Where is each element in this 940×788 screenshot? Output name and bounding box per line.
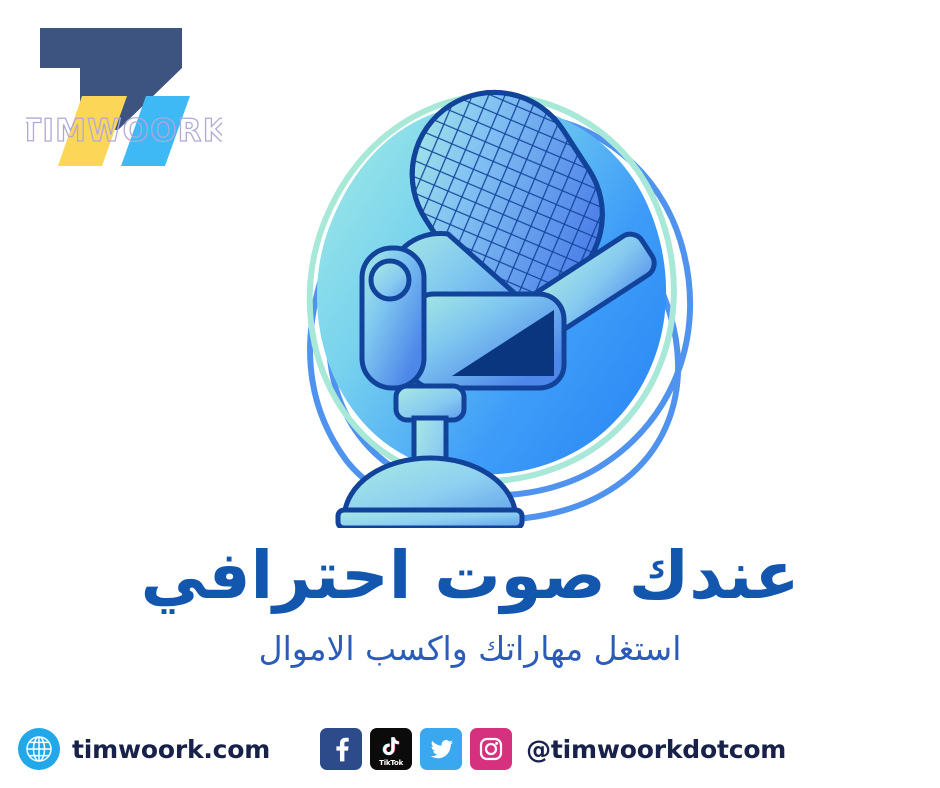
website-url[interactable]: timwoork.com (72, 735, 270, 764)
tiktok-link[interactable]: TikTok (370, 728, 412, 770)
tiktok-wordmark: TikTok (370, 760, 412, 767)
promo-poster: TIMWOORK (0, 0, 940, 788)
brand-logo[interactable]: TIMWOORK (22, 8, 222, 168)
headline-block: عندك صوت احترافي استغل مهاراتك واكسب الا… (0, 540, 940, 668)
twitter-icon (428, 736, 455, 763)
instagram-icon (478, 736, 504, 762)
social-handle[interactable]: @timwoorkdotcom (526, 735, 786, 764)
facebook-link[interactable] (320, 728, 362, 770)
headline-text: عندك صوت احترافي (0, 540, 940, 611)
facebook-icon (328, 736, 354, 762)
website-group[interactable]: timwoork.com (18, 728, 270, 770)
footer-bar: timwoork.com TikTok (0, 718, 940, 780)
twitter-link[interactable] (420, 728, 462, 770)
instagram-link[interactable] (470, 728, 512, 770)
social-links-group: TikTok (320, 728, 512, 770)
globe-icon (18, 728, 60, 770)
tiktok-icon (379, 735, 403, 759)
hero-illustration (238, 58, 708, 528)
studio-microphone-illustration-icon (238, 58, 708, 528)
subhead-text: استغل مهاراتك واكسب الاموال (0, 629, 940, 668)
timwoork-t-mark-icon (22, 8, 222, 168)
